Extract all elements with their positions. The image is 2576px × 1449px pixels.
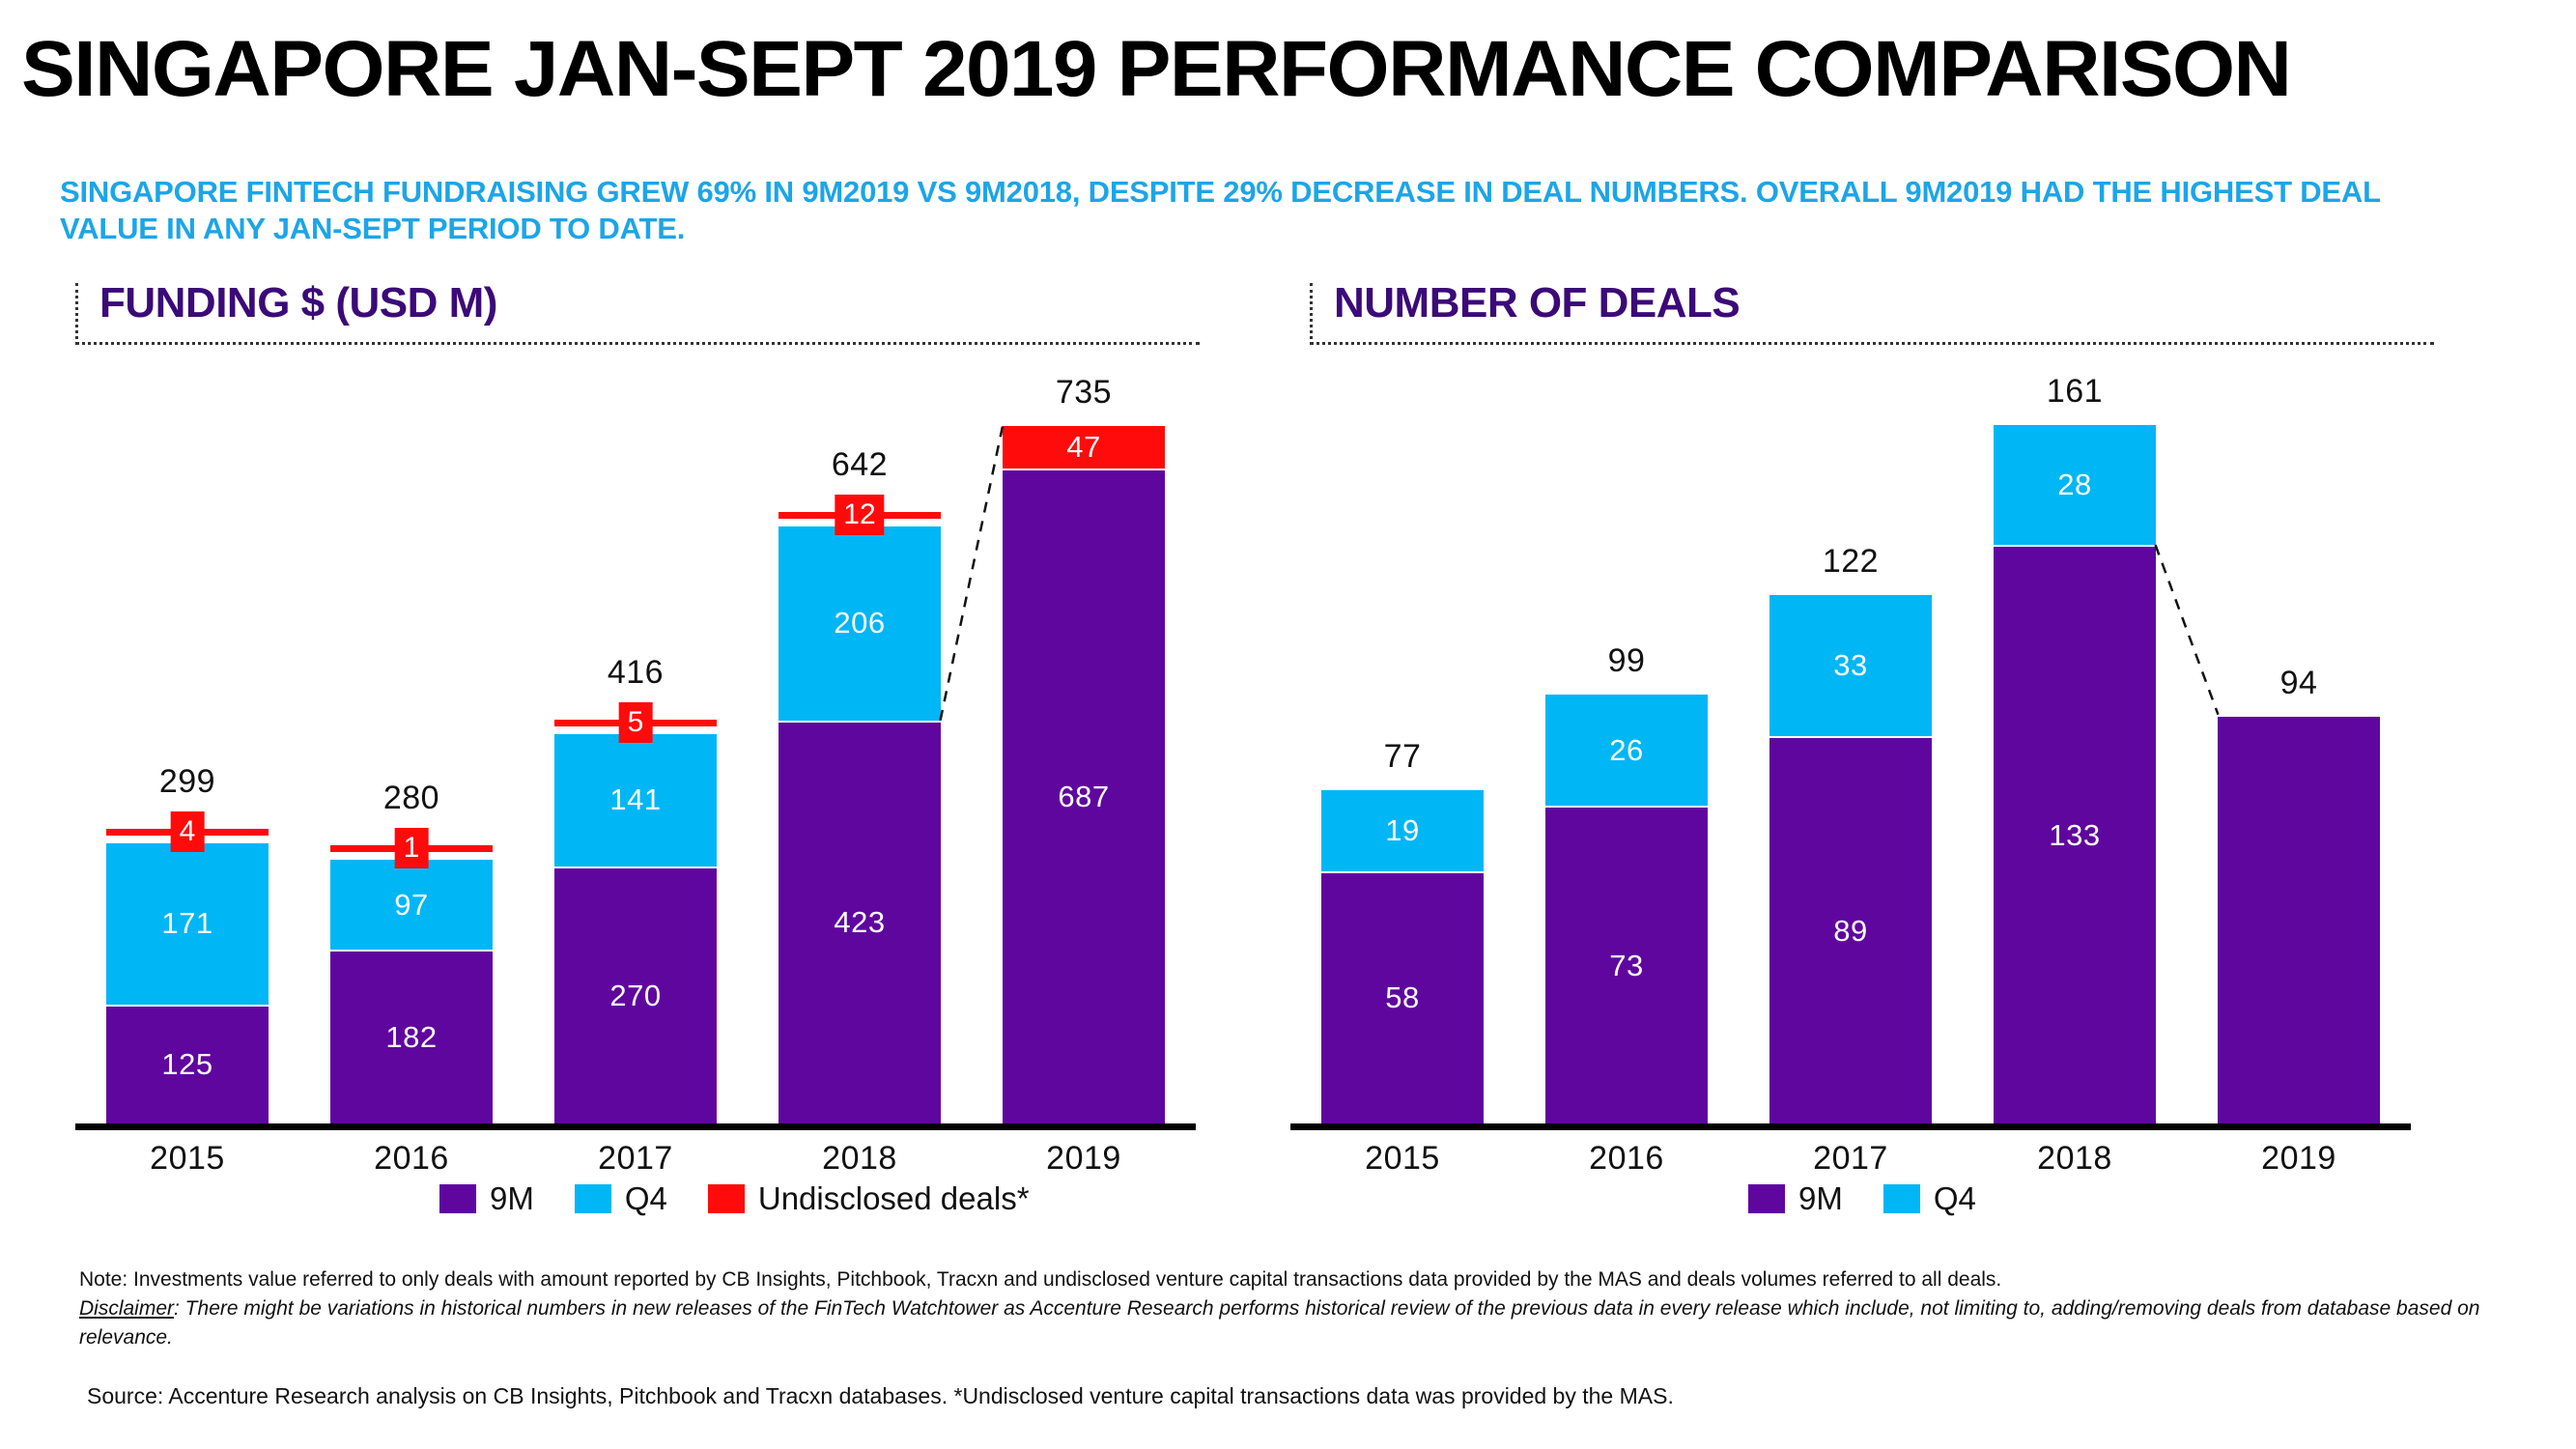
bar-total-2016: 99 xyxy=(1545,642,1707,680)
bar-stack: 3389 xyxy=(1769,593,1931,1123)
chart-deals-plot: 7720151958992016267312220173389161201828… xyxy=(1290,377,2411,1130)
legend-label: Q4 xyxy=(1934,1180,1976,1217)
bar-segment-q4-2016: 26 xyxy=(1545,693,1707,806)
bar-total-2018: 642 xyxy=(778,446,940,484)
bar-stack: 97182 xyxy=(330,858,492,1123)
legend-label: Q4 xyxy=(625,1180,667,1217)
legend-label: 9M xyxy=(490,1180,534,1217)
x-axis-label-2018: 2018 xyxy=(778,1140,940,1178)
bar-total-2015: 77 xyxy=(1321,738,1483,776)
x-axis-label-2019: 2019 xyxy=(1003,1140,1164,1178)
legend-swatch-icon xyxy=(1883,1184,1920,1213)
bar-segment-value: 687 xyxy=(1058,780,1109,814)
chart-deals-axis xyxy=(1290,1123,2411,1130)
chart-funding: 2992015171125428020169718214162017141270… xyxy=(75,377,1196,1130)
bar-group-2016[interactable]: 2673 xyxy=(1545,693,1707,1123)
legend-item-q4[interactable]: Q4 xyxy=(1883,1180,1976,1217)
bar-total-2017: 416 xyxy=(554,654,716,692)
legend-item-9m[interactable]: 9M xyxy=(1748,1180,1843,1217)
bar-stack: 1958 xyxy=(1321,788,1483,1123)
bar-total-2015: 299 xyxy=(106,763,268,801)
legend-label: 9M xyxy=(1798,1180,1843,1217)
undisclosed-badge-2015: 4 xyxy=(171,811,205,852)
x-axis-label-2018: 2018 xyxy=(1994,1140,2155,1178)
bar-stack: 141270 xyxy=(554,732,716,1123)
bar-segment-9m-2015: 58 xyxy=(1321,871,1483,1123)
legend-item-9m[interactable]: 9M xyxy=(439,1180,534,1217)
bar-segment-9m-2019: 687 xyxy=(1003,469,1164,1123)
x-axis-label-2015: 2015 xyxy=(1321,1140,1483,1178)
legend-funding: 9MQ4Undisclosed deals* xyxy=(439,1180,1055,1217)
section-header-deals: NUMBER OF DEALS xyxy=(1310,283,2434,345)
bar-total-2017: 122 xyxy=(1769,543,1931,581)
legend-deals: 9MQ4 xyxy=(1748,1180,2001,1217)
bar-segment-q4-2018: 28 xyxy=(1994,423,2155,545)
bar-segment-q4-2015: 19 xyxy=(1321,788,1483,871)
bar-group-2017[interactable]: 3389 xyxy=(1769,593,1931,1123)
x-axis-label-2019: 2019 xyxy=(2218,1140,2379,1178)
bar-segment-value: 47 xyxy=(1066,430,1100,465)
bar-segment-value: 89 xyxy=(1833,914,1867,949)
bar-stack: 2673 xyxy=(1545,693,1707,1123)
bar-segment-value: 19 xyxy=(1385,813,1419,848)
bar-segment-q4-2017: 33 xyxy=(1769,593,1931,737)
x-axis-label-2015: 2015 xyxy=(106,1140,268,1178)
legend-item-q4[interactable]: Q4 xyxy=(575,1180,667,1217)
footnote-disclaimer: Disclaimer: There might be variations in… xyxy=(79,1294,2513,1352)
legend-swatch-icon xyxy=(708,1184,745,1213)
bar-segment-value: 125 xyxy=(161,1047,212,1082)
bar-stack: 171125 xyxy=(106,841,268,1123)
bar-segment-q4-2018: 206 xyxy=(778,525,940,721)
bar-segment-value: 28 xyxy=(2057,468,2091,502)
bar-segment-value: 182 xyxy=(385,1020,437,1055)
legend-swatch-icon xyxy=(575,1184,611,1213)
bar-segment-9m-2016: 73 xyxy=(1545,806,1707,1123)
bar-group-2019[interactable] xyxy=(2218,715,2379,1123)
bar-total-2019: 94 xyxy=(2218,665,2379,702)
bar-stack: 47687 xyxy=(1003,424,1164,1123)
section-header-deals-label: NUMBER OF DEALS xyxy=(1334,279,1740,327)
bar-segment-value: 270 xyxy=(609,979,661,1013)
footnote-disclaimer-label: Disclaimer xyxy=(79,1297,174,1320)
bar-segment-q4-2015: 171 xyxy=(106,841,268,1005)
legend-label: Undisclosed deals* xyxy=(758,1180,1030,1217)
footnote-block: Note: Investments value referred to only… xyxy=(79,1265,2513,1352)
bar-total-2016: 280 xyxy=(330,780,492,817)
bar-segment-9m-2017: 270 xyxy=(554,867,716,1123)
bar-group-2018[interactable]: 20642312 xyxy=(778,525,940,1123)
legend-swatch-icon xyxy=(1748,1184,1785,1213)
footnote-note: Note: Investments value referred to only… xyxy=(79,1265,2513,1294)
bar-segment-value: 206 xyxy=(834,606,885,640)
page-subtitle: SINGAPORE FINTECH FUNDRAISING GREW 69% I… xyxy=(60,174,2475,247)
legend-swatch-icon xyxy=(439,1184,476,1213)
bar-group-2016[interactable]: 971821 xyxy=(330,858,492,1123)
bar-group-2019[interactable]: 47687 xyxy=(1003,424,1164,1123)
legend-item-undisclosed-deals[interactable]: Undisclosed deals* xyxy=(708,1180,1030,1217)
bar-segment-9m-2018: 133 xyxy=(1994,545,2155,1123)
bar-group-2015[interactable]: 1958 xyxy=(1321,788,1483,1123)
bar-stack xyxy=(2218,715,2379,1123)
bar-segment-9m-2016: 182 xyxy=(330,950,492,1123)
bar-segment-9m-2018: 423 xyxy=(778,721,940,1123)
bar-stack: 28133 xyxy=(1994,423,2155,1123)
bar-total-2018: 161 xyxy=(1994,373,2155,411)
x-axis-label-2016: 2016 xyxy=(330,1140,492,1178)
undisclosed-badge-2018: 12 xyxy=(835,495,884,535)
bar-group-2015[interactable]: 1711254 xyxy=(106,841,268,1123)
section-header-funding-label: FUNDING $ (USD M) xyxy=(99,279,497,327)
undisclosed-badge-2017: 5 xyxy=(619,702,653,743)
footnote-disclaimer-body: : There might be variations in historica… xyxy=(79,1297,2479,1349)
bar-segment-value: 58 xyxy=(1385,980,1419,1015)
bar-segment-q4-2016: 97 xyxy=(330,858,492,951)
bar-segment-value: 423 xyxy=(834,905,885,940)
bar-group-2018[interactable]: 28133 xyxy=(1994,423,2155,1123)
bar-group-2017[interactable]: 1412705 xyxy=(554,732,716,1123)
x-axis-label-2017: 2017 xyxy=(1769,1140,1931,1178)
bar-segment-value: 73 xyxy=(1609,949,1643,983)
bar-stack: 206423 xyxy=(778,525,940,1123)
footnote-source: Source: Accenture Research analysis on C… xyxy=(87,1383,2521,1409)
section-header-funding: FUNDING $ (USD M) xyxy=(75,283,1200,345)
bar-segment-value: 97 xyxy=(394,888,428,923)
bar-segment-undisclosed-2019: 47 xyxy=(1003,424,1164,469)
chart-funding-axis xyxy=(75,1123,1196,1130)
bar-segment-value: 171 xyxy=(161,906,212,941)
bar-total-2019: 735 xyxy=(1003,374,1164,412)
bar-segment-value: 133 xyxy=(2049,818,2100,853)
bar-segment-value: 33 xyxy=(1833,648,1867,683)
undisclosed-badge-2016: 1 xyxy=(395,828,429,868)
bar-segment-value: 141 xyxy=(609,782,661,817)
chart-funding-plot: 2992015171125428020169718214162017141270… xyxy=(75,377,1196,1130)
bar-segment-q4-2017: 141 xyxy=(554,732,716,867)
chart-deals: 7720151958992016267312220173389161201828… xyxy=(1290,377,2411,1130)
bar-segment-9m-2015: 125 xyxy=(106,1005,268,1123)
bar-segment-9m-2019 xyxy=(2218,715,2379,1123)
bar-segment-value: 26 xyxy=(1609,733,1643,768)
x-axis-label-2017: 2017 xyxy=(554,1140,716,1178)
bar-segment-9m-2017: 89 xyxy=(1769,736,1931,1123)
page-title: SINGAPORE JAN-SEPT 2019 PERFORMANCE COMP… xyxy=(21,27,2576,112)
x-axis-label-2016: 2016 xyxy=(1545,1140,1707,1178)
